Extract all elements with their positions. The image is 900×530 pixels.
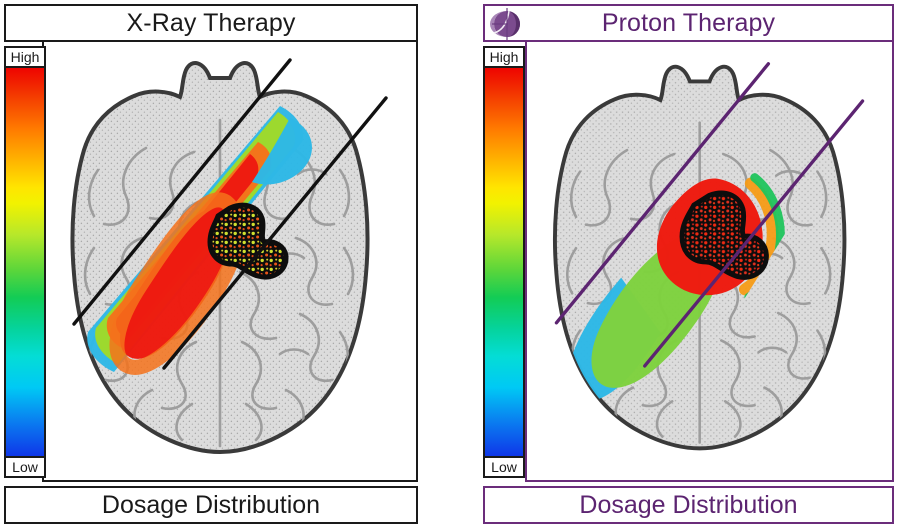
xray-header-title: X-Ray Therapy [127,11,296,36]
xray-brain-scan [44,42,416,478]
panel-xray: X-Ray Therapy High Low [4,4,418,524]
proton-colorbar-low-label: Low [483,456,525,478]
proton-header-title: Proton Therapy [602,11,775,36]
xray-header: X-Ray Therapy [4,4,418,42]
xray-colorbar: High Low [4,42,46,482]
xray-colorbar-low-label: Low [4,456,46,478]
xray-colorbar-high-label: High [4,46,46,68]
proton-header: Proton Therapy [483,4,894,42]
proton-colorbar: High Low [483,42,525,482]
proton-brain-scan [527,42,892,478]
proton-colorbar-gradient [483,64,525,460]
proton-footer: Dosage Distribution [483,486,894,524]
proton-scan-frame [525,42,894,482]
proton-sphere-icon [487,7,527,41]
xray-footer-title: Dosage Distribution [102,493,320,518]
panel-proton: Proton Therapy High Low [483,4,894,524]
xray-colorbar-gradient [4,64,46,460]
dosage-comparison-figure: X-Ray Therapy High Low [0,0,900,530]
xray-footer: Dosage Distribution [4,486,418,524]
proton-footer-title: Dosage Distribution [579,493,797,518]
proton-colorbar-high-label: High [483,46,525,68]
xray-scan-frame [42,42,418,482]
